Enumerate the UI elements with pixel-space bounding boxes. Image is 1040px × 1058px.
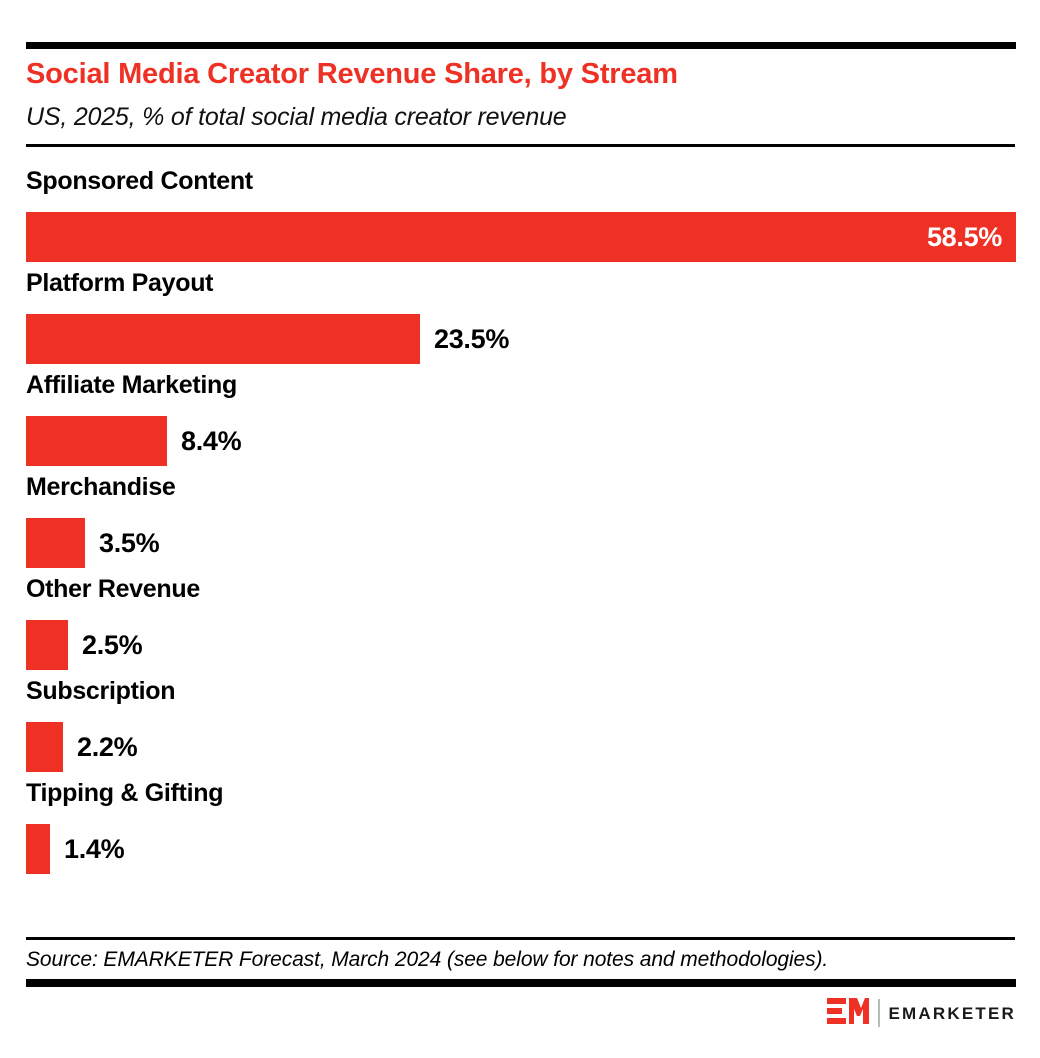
bar-row: 2.2% [26,722,1016,772]
bar-group: Tipping & Gifting1.4% [26,778,1016,880]
bar-category-label: Tipping & Gifting [26,778,223,808]
bar-row: 3.5% [26,518,1016,568]
bar-group: Merchandise3.5% [26,472,1016,574]
bar-group: Platform Payout23.5% [26,268,1016,370]
bar-row: 1.4% [26,824,1016,874]
bar-group: Affiliate Marketing8.4% [26,370,1016,472]
bar-group: Sponsored Content58.5% [26,166,1016,268]
bar-value-label: 23.5% [434,314,509,364]
bar-row: 8.4% [26,416,1016,466]
bar-value-label: 2.2% [77,722,137,772]
bar-row: 23.5% [26,314,1016,364]
bar-group: Other Revenue2.5% [26,574,1016,676]
bar[interactable] [26,824,50,874]
chart-subtitle: US, 2025, % of total social media creato… [26,102,567,132]
bar-category-label: Subscription [26,676,175,706]
chart-inner: Social Media Creator Revenue Share, by S… [26,0,1016,1058]
bar[interactable] [26,722,63,772]
bar-category-label: Other Revenue [26,574,200,604]
bar-category-label: Merchandise [26,472,176,502]
bar[interactable] [26,416,167,466]
chart-title: Social Media Creator Revenue Share, by S… [26,57,678,91]
bar-chart-plot: Sponsored Content58.5%Platform Payout23.… [26,166,1016,906]
bar-value-label: 8.4% [181,416,241,466]
bar-row: 58.5% [26,212,1016,262]
bar-value-label: 1.4% [64,824,124,874]
bar-value-label: 2.5% [82,620,142,670]
logo-divider [878,999,880,1027]
bar-category-label: Sponsored Content [26,166,253,196]
bottom-rule [26,979,1016,987]
top-rule [26,42,1016,49]
bar[interactable] [26,212,1016,262]
emarketer-logo: EMARKETER [827,998,1016,1028]
bar-row: 2.5% [26,620,1016,670]
bar[interactable] [26,620,68,670]
em-monogram-icon [827,997,869,1030]
bar-category-label: Platform Payout [26,268,213,298]
footer-divider [26,937,1015,940]
source-note: Source: EMARKETER Forecast, March 2024 (… [26,948,828,972]
bar-value-label: 58.5% [927,212,1002,262]
header-divider [26,144,1015,147]
bar[interactable] [26,518,85,568]
bar-value-label: 3.5% [99,518,159,568]
bar[interactable] [26,314,420,364]
bar-category-label: Affiliate Marketing [26,370,237,400]
bar-group: Subscription2.2% [26,676,1016,778]
logo-wordmark: EMARKETER [889,1005,1016,1022]
chart-card: Social Media Creator Revenue Share, by S… [0,0,1040,1058]
